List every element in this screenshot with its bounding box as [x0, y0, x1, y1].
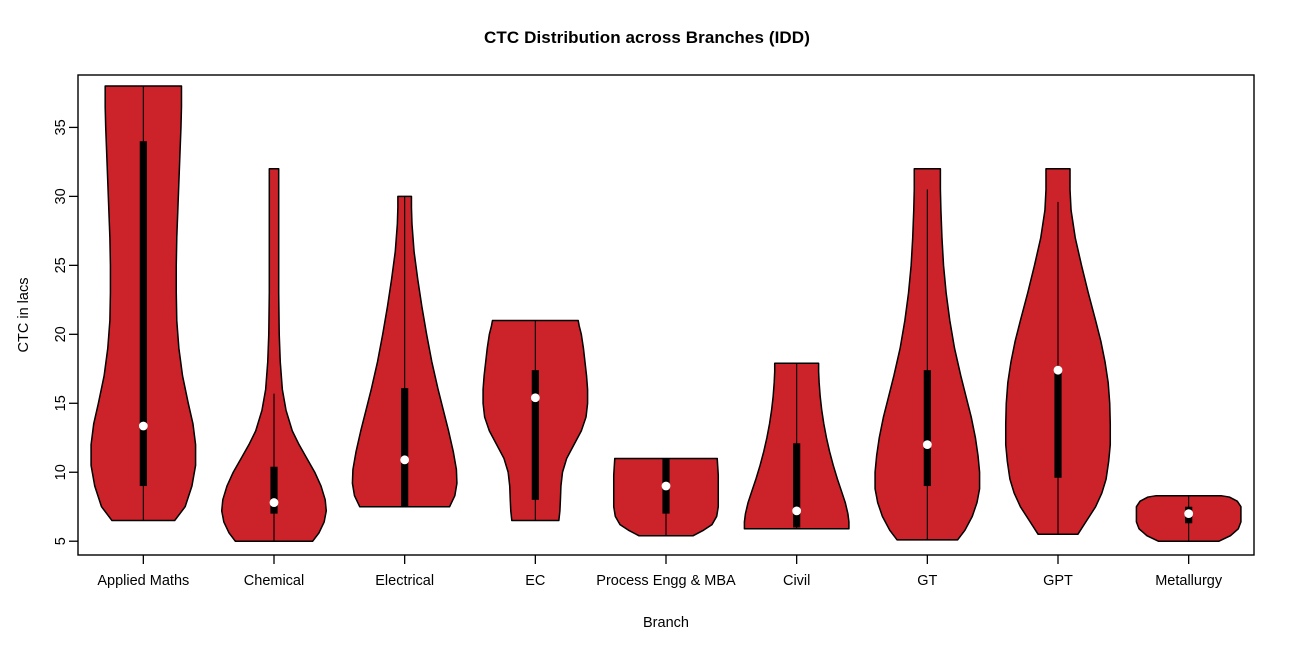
- x-axis-title: Branch: [643, 615, 689, 631]
- median-point: [662, 482, 671, 491]
- median-point: [1184, 509, 1193, 518]
- iqr-box: [1054, 370, 1061, 478]
- x-tick-label: GPT: [1043, 573, 1073, 589]
- plot-canvas: 5101520253035Applied MathsChemicalElectr…: [0, 0, 1294, 653]
- violin-civil: [744, 363, 849, 529]
- iqr-box: [140, 141, 147, 486]
- violin-metallurgy: [1136, 496, 1241, 542]
- median-point: [792, 506, 801, 515]
- violin-gpt: [1006, 169, 1111, 535]
- violin-ec: [483, 321, 588, 521]
- violin-plot-figure: CTC Distribution across Branches (IDD) 5…: [0, 0, 1294, 653]
- x-tick-label: Metallurgy: [1155, 573, 1223, 589]
- median-point: [1054, 366, 1063, 375]
- x-tick-label: EC: [525, 573, 545, 589]
- violin-chemical: [222, 169, 327, 541]
- violins-layer: [91, 86, 1241, 541]
- x-tick-label: Electrical: [375, 573, 434, 589]
- y-tick-label: 25: [53, 257, 69, 273]
- x-tick-label: Process Engg & MBA: [596, 573, 736, 589]
- x-tick-label: Applied Maths: [97, 573, 189, 589]
- median-point: [270, 498, 279, 507]
- x-tick-label: Chemical: [244, 573, 304, 589]
- x-tick-label: GT: [917, 573, 937, 589]
- median-point: [400, 455, 409, 464]
- y-tick-label: 15: [53, 395, 69, 411]
- median-point: [139, 422, 148, 431]
- y-tick-label: 35: [53, 119, 69, 135]
- violin-applied-maths: [91, 86, 196, 520]
- y-tick-label: 20: [53, 326, 69, 342]
- y-axis-title: CTC in lacs: [16, 278, 32, 353]
- x-tick-label: Civil: [783, 573, 810, 589]
- y-tick-label: 30: [53, 188, 69, 204]
- y-tick-label: 10: [53, 464, 69, 480]
- iqr-box: [532, 370, 539, 500]
- violin-gt: [875, 169, 980, 540]
- violin-electrical: [352, 196, 457, 506]
- iqr-box: [924, 370, 931, 486]
- median-point: [531, 393, 540, 402]
- y-tick-label: 5: [53, 537, 69, 545]
- median-point: [923, 440, 932, 449]
- violin-process-engg-mba: [614, 458, 719, 535]
- iqr-box: [401, 388, 408, 507]
